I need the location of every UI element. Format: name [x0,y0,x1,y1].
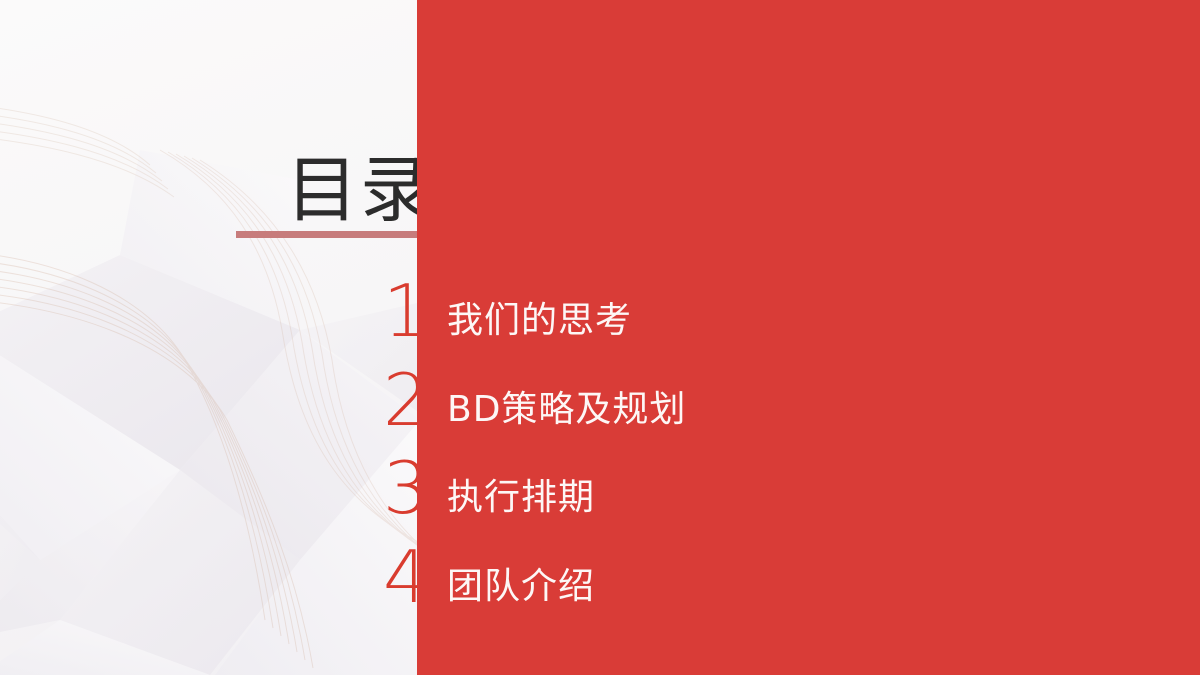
agenda-label-2: BD策略及规划 [447,367,686,445]
agenda-number-clip-2: 2 [0,367,417,445]
agenda-item-3[interactable]: 3 执行排期 [0,455,1200,533]
agenda-list: 1 我们的思考 2 BD策略及规划 3 执行排期 4 团队介绍 [0,0,1200,675]
agenda-label-1: 我们的思考 [447,278,632,356]
agenda-item-2[interactable]: 2 BD策略及规划 [0,367,1200,445]
agenda-number-clip-3: 3 [0,455,417,533]
agenda-item-4[interactable]: 4 团队介绍 [0,544,1200,622]
agenda-label-3: 执行排期 [447,455,595,533]
agenda-number-1: 1 [383,278,417,350]
agenda-number-clip-1: 1 [0,278,417,356]
agenda-number-2: 2 [383,367,417,439]
agenda-number-4: 4 [383,544,417,616]
agenda-label-4: 团队介绍 [447,544,595,622]
agenda-number-clip-4: 4 [0,544,417,622]
agenda-item-1[interactable]: 1 我们的思考 [0,278,1200,356]
agenda-number-3: 3 [383,455,417,527]
agenda-slide: 目录 1 我们的思考 2 BD策略及规划 3 执行排期 4 团队介绍 [0,0,1200,675]
